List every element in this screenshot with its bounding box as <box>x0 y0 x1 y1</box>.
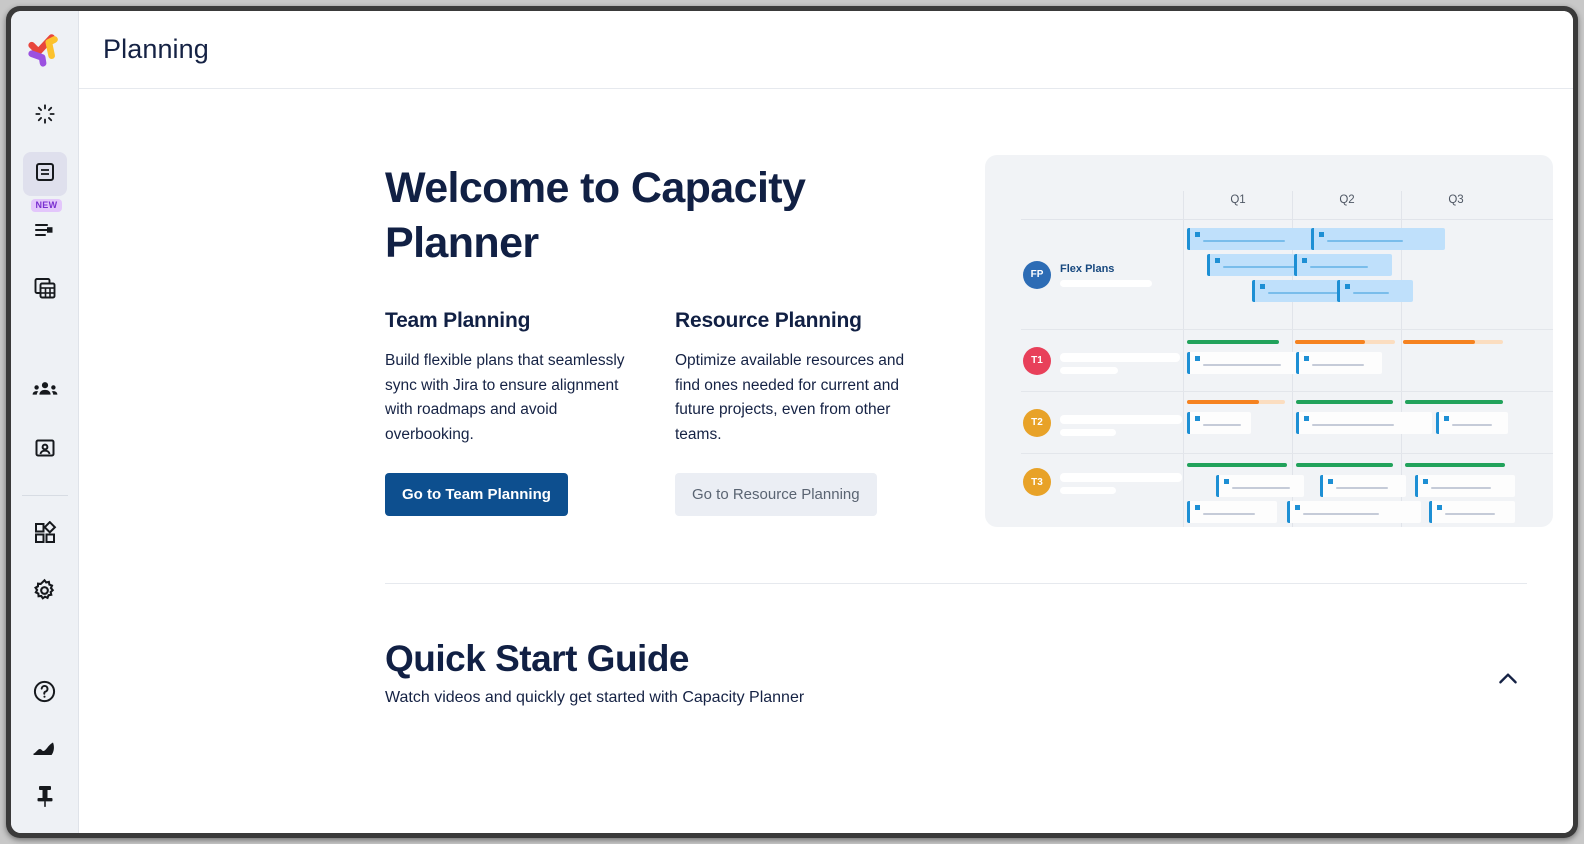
sidebar-people-group <box>11 363 78 479</box>
people-icon <box>32 377 58 408</box>
sidebar-primary-group: NEW <box>11 87 78 319</box>
page-content: Welcome to Capacity Planner Team Plannin… <box>79 89 1573 833</box>
sidebar-item-pin[interactable] <box>23 776 67 820</box>
content-fade <box>79 807 1573 833</box>
quarter-label: Q1 <box>1183 191 1292 219</box>
go-to-resource-planning-button[interactable]: Go to Resource Planning <box>675 473 877 516</box>
timeline-row-label: FP Flex Plans <box>1021 220 1183 329</box>
feature-resource-planning: Resource Planning Optimize available res… <box>675 309 965 516</box>
go-to-team-planning-button[interactable]: Go to Team Planning <box>385 473 568 516</box>
gear-icon <box>32 578 57 608</box>
sidebar-item-loading[interactable] <box>23 94 67 138</box>
quarter-label: Q2 <box>1292 191 1401 219</box>
progress-bar <box>1187 400 1259 404</box>
sidebar-item-contacts[interactable] <box>23 428 67 472</box>
sidebar-item-reports[interactable]: NEW <box>23 210 67 254</box>
window-frame: NEW <box>6 6 1578 838</box>
sidebar-item-apps[interactable] <box>23 513 67 557</box>
timeline-row: T1 <box>1021 330 1553 392</box>
grid-sheet-icon <box>33 276 57 305</box>
timeline-card[interactable] <box>1415 475 1515 497</box>
sidebar-divider <box>22 495 68 496</box>
timeline-card[interactable] <box>1187 412 1251 434</box>
progress-bar <box>1187 463 1287 467</box>
progress-bar <box>1296 463 1393 467</box>
sidebar-item-whats-new[interactable] <box>23 730 67 774</box>
timeline-grid <box>1183 330 1553 391</box>
sidebar-item-sheets[interactable] <box>23 268 67 312</box>
apps-grid-icon <box>33 521 57 550</box>
help-circle-icon <box>32 679 57 709</box>
page-title: Planning <box>103 34 209 65</box>
timeline-card[interactable] <box>1287 501 1421 523</box>
timeline-card[interactable] <box>1296 352 1382 374</box>
feature-heading: Resource Planning <box>675 309 932 333</box>
progress-bar <box>1187 340 1279 344</box>
timeline-quarter-header: Q1 Q2 Q3 <box>1021 191 1553 219</box>
timeline-row-label: T1 <box>1021 330 1183 391</box>
new-badge: NEW <box>31 199 63 212</box>
sidebar-item-settings[interactable] <box>23 571 67 615</box>
timeline-card[interactable] <box>1216 475 1304 497</box>
sidebar: NEW <box>11 11 79 833</box>
capacity-timeline-preview: Q1 Q2 Q3 FP Flex Plans <box>985 155 1553 527</box>
app-screen: NEW <box>11 11 1573 833</box>
sidebar-item-help[interactable] <box>23 672 67 716</box>
pin-icon <box>34 784 56 813</box>
avatar: T1 <box>1023 347 1051 375</box>
timeline-body: FP Flex Plans <box>1021 219 1553 527</box>
progress-bar <box>1295 340 1365 344</box>
quick-start-title: Quick Start Guide <box>385 638 1495 680</box>
top-bar: Planning <box>79 11 1573 89</box>
timeline-row: T2 <box>1021 392 1553 454</box>
timeline-card[interactable] <box>1429 501 1515 523</box>
trending-icon <box>32 740 58 765</box>
feature-team-planning: Team Planning Build flexible plans that … <box>385 309 675 516</box>
chevron-up-icon[interactable] <box>1495 666 1521 697</box>
list-icon <box>33 218 57 247</box>
timeline-row-label: T3 <box>1021 454 1183 527</box>
id-card-icon <box>33 436 57 465</box>
sidebar-item-planning[interactable] <box>23 152 67 196</box>
sidebar-item-teams[interactable] <box>23 370 67 414</box>
app-logo[interactable] <box>11 11 78 87</box>
timeline-card[interactable] <box>1337 280 1413 302</box>
spinner-icon <box>34 103 56 130</box>
timeline-grid <box>1183 392 1553 453</box>
timeline-row-label: T2 <box>1021 392 1183 453</box>
timeline-card[interactable] <box>1187 501 1277 523</box>
timeline-grid <box>1183 220 1553 329</box>
sidebar-bottom-group <box>11 665 78 833</box>
feature-body: Build flexible plans that seamlessly syn… <box>385 349 642 447</box>
document-icon <box>33 160 57 189</box>
timeline-row: FP Flex Plans <box>1021 220 1553 330</box>
progress-bar <box>1403 340 1475 344</box>
timeline-card[interactable] <box>1320 475 1406 497</box>
timeline-card[interactable] <box>1187 228 1325 250</box>
progress-bar <box>1296 400 1393 404</box>
quarter-label: Q3 <box>1401 191 1510 219</box>
sidebar-tools-group <box>11 506 78 622</box>
timeline-card[interactable] <box>1296 412 1432 434</box>
quick-start-section: Quick Start Guide Watch videos and quick… <box>79 584 1573 707</box>
main-area: Planning Welcome to Capacity Planner Tea… <box>79 11 1573 833</box>
timeline-card[interactable] <box>1436 412 1508 434</box>
progress-bar <box>1405 400 1503 404</box>
hero-left-column: Welcome to Capacity Planner Team Plannin… <box>385 161 945 527</box>
feature-heading: Team Planning <box>385 309 642 333</box>
feature-columns: Team Planning Build flexible plans that … <box>385 309 945 516</box>
avatar: FP <box>1023 261 1051 289</box>
timeline-row: T3 <box>1021 454 1553 527</box>
avatar: T2 <box>1023 409 1051 437</box>
feature-body: Optimize available resources and find on… <box>675 349 932 447</box>
timeline-grid <box>1183 454 1553 527</box>
hero-title: Welcome to Capacity Planner <box>385 161 855 271</box>
timeline-card[interactable] <box>1294 254 1392 276</box>
avatar: T3 <box>1023 468 1051 496</box>
hero-section: Welcome to Capacity Planner Team Plannin… <box>79 89 1573 527</box>
progress-bar <box>1405 463 1505 467</box>
row-name: Flex Plans <box>1060 263 1173 275</box>
timeline-card[interactable] <box>1311 228 1445 250</box>
quick-start-subtitle: Watch videos and quickly get started wit… <box>385 689 1495 707</box>
